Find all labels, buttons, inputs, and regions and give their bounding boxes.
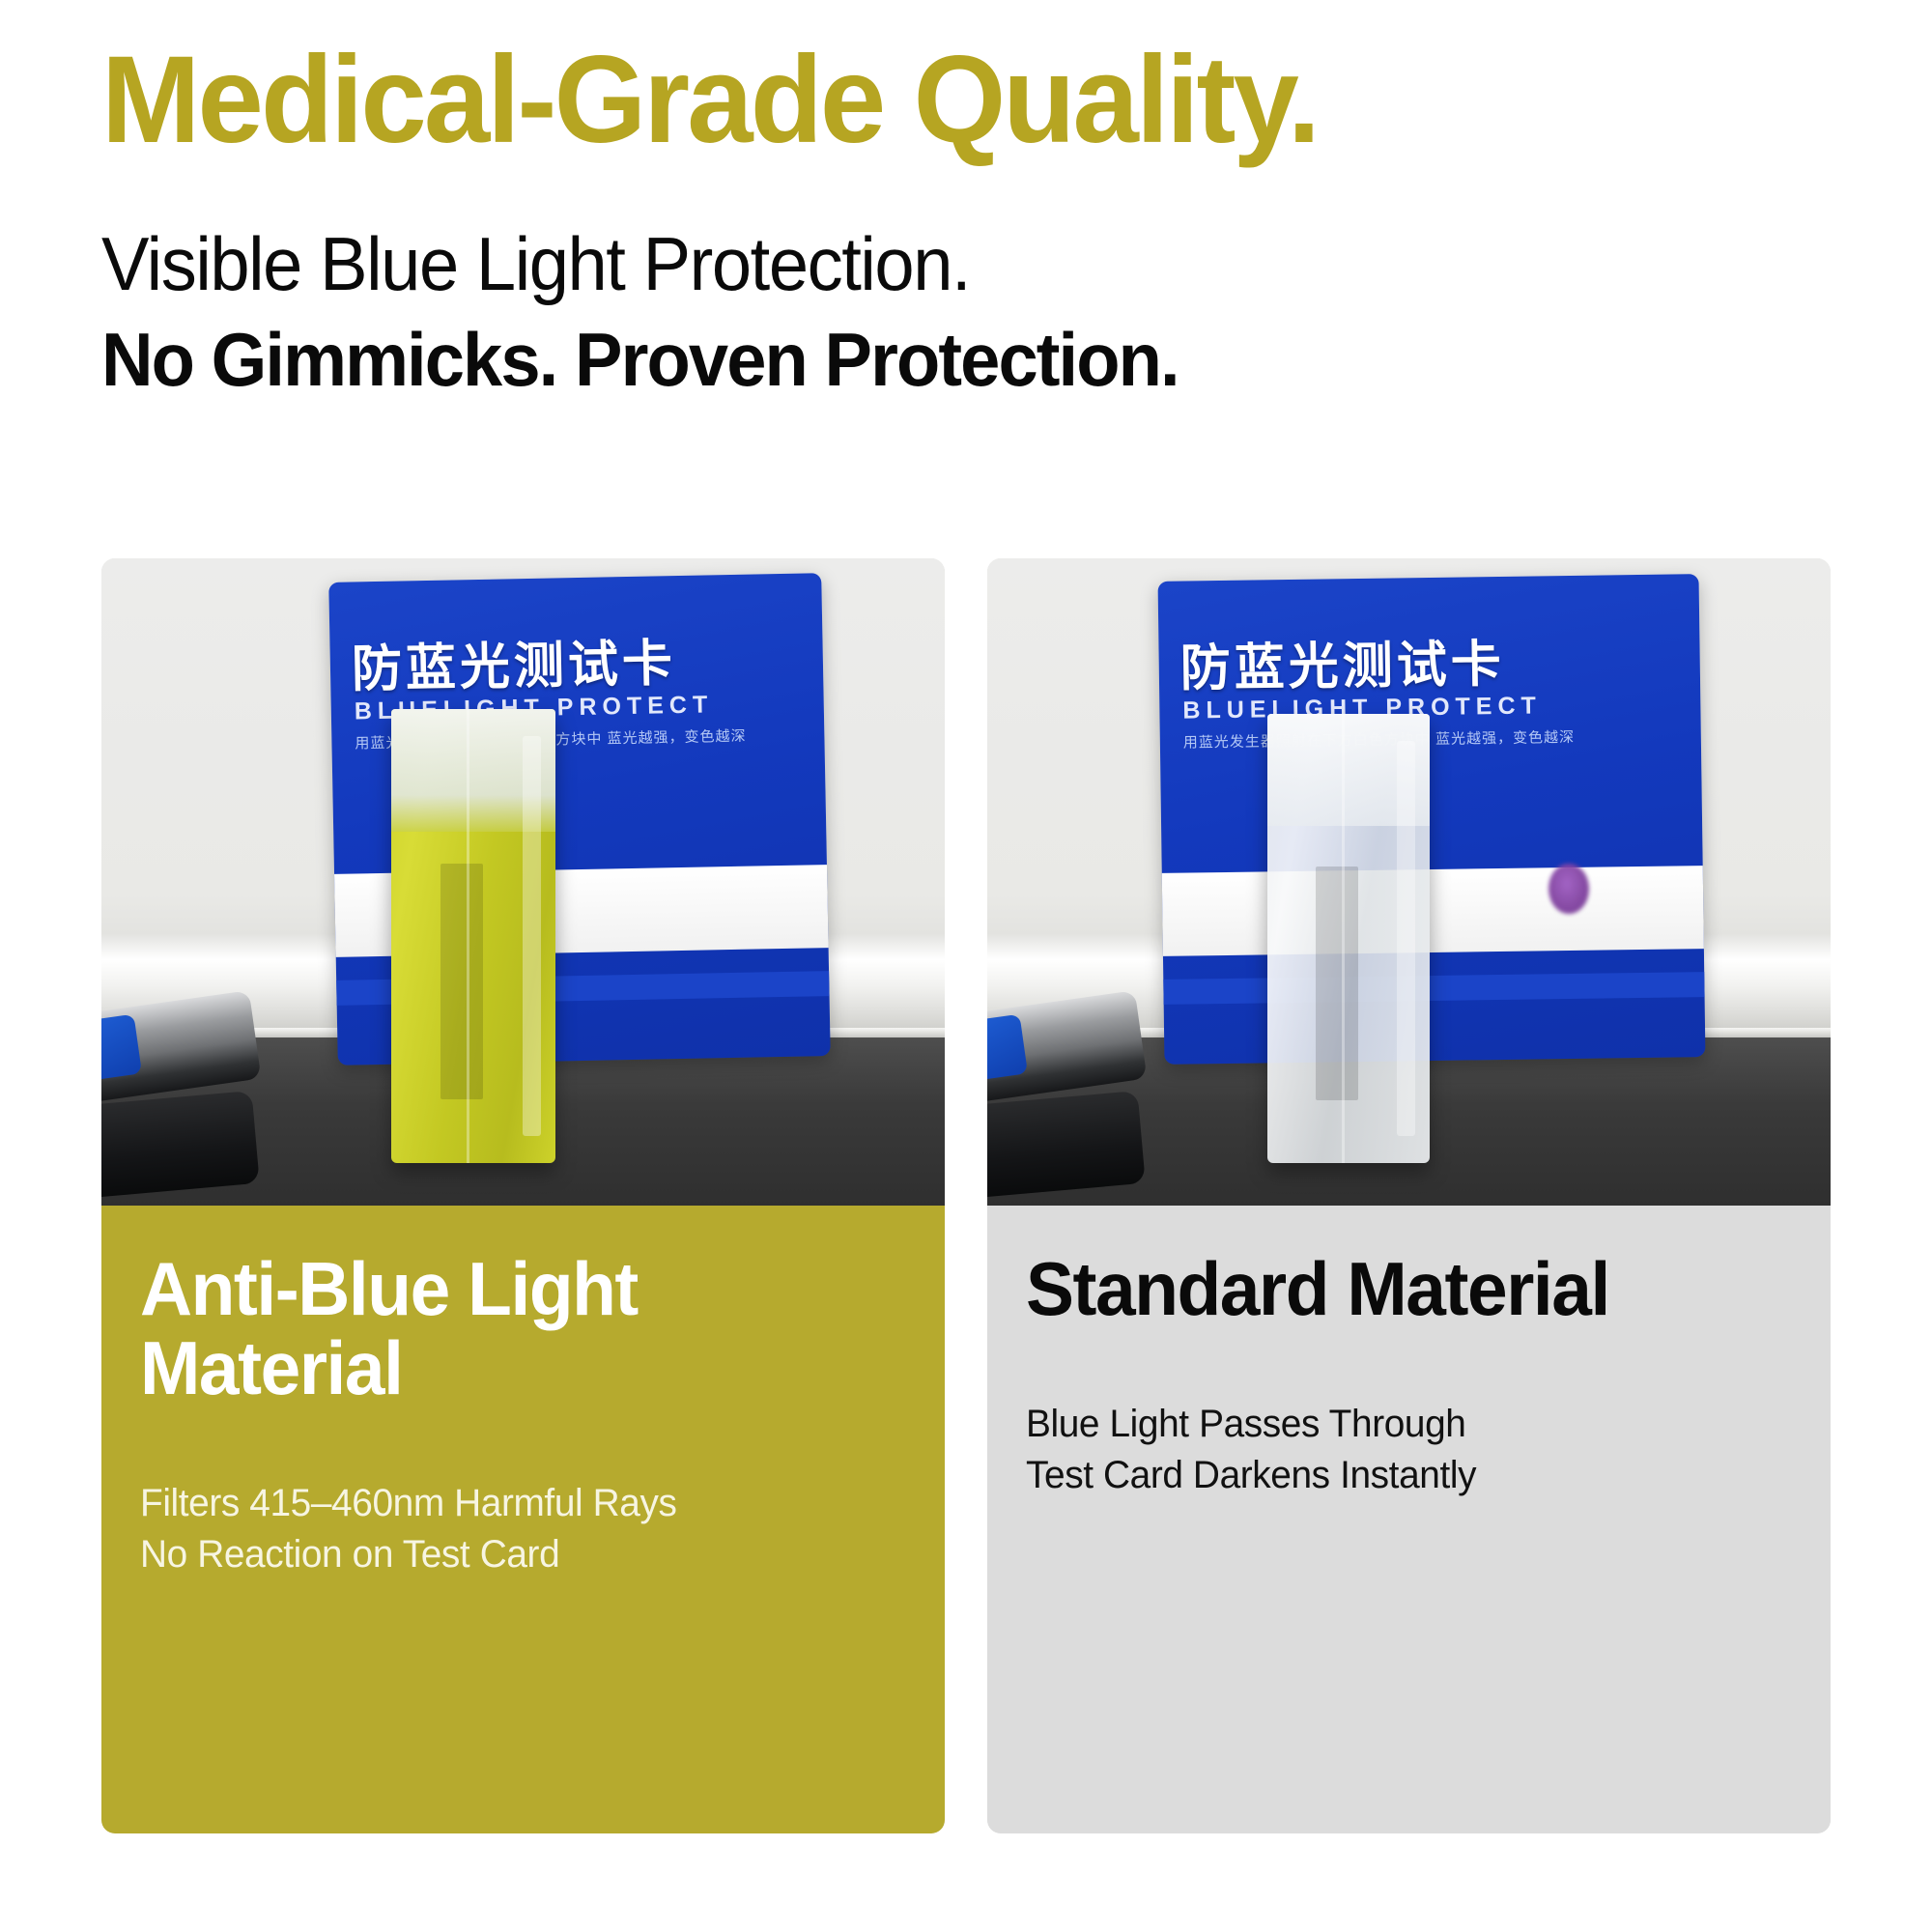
comparison-card-group: 防蓝光测试卡 BLUELIGHT PROTECT 用蓝光发生器照射在下方白色方块… xyxy=(101,558,1831,1833)
cuvette-reflection xyxy=(523,736,541,1136)
card-title-anti-blue-light: Anti-Blue Light Material xyxy=(140,1250,875,1408)
blue-test-card: 防蓝光测试卡 BLUELIGHT PROTECT 用蓝光发生器照射在下方白色方块… xyxy=(1158,574,1706,1065)
caption-standard-material: Standard Material Blue Light Passes Thro… xyxy=(987,1206,1831,1833)
test-card-chinese-title: 防蓝光测试卡 xyxy=(351,619,813,700)
blue-light-flashlight xyxy=(101,993,285,1186)
purple-reaction-spot xyxy=(1548,864,1590,915)
test-card-white-panel xyxy=(1162,866,1704,956)
cuvette-window xyxy=(440,864,483,1099)
photo-standard-material: 防蓝光测试卡 BLUELIGHT PROTECT 用蓝光发生器照射在下方白色方块… xyxy=(987,558,1831,1206)
card-body-anti-blue-light: Filters 415–460nm Harmful Rays No Reacti… xyxy=(140,1478,883,1581)
card-body-standard-material: Blue Light Passes Through Test Card Dark… xyxy=(1026,1399,1769,1502)
caption-anti-blue-light: Anti-Blue Light Material Filters 415–460… xyxy=(101,1206,945,1833)
test-card-chinese-title: 防蓝光测试卡 xyxy=(1179,620,1690,699)
cuvette-window xyxy=(1316,867,1358,1100)
page-title: Medical-Grade Quality. xyxy=(101,39,1771,162)
header: Medical-Grade Quality. Visible Blue Ligh… xyxy=(101,39,1840,403)
cuvette-seam xyxy=(1342,714,1345,1163)
cuvette-yellow-filled xyxy=(391,709,555,1163)
blue-light-flashlight xyxy=(987,993,1171,1186)
card-title-standard-material: Standard Material xyxy=(1026,1250,1761,1329)
cuvette-reflection xyxy=(1397,741,1414,1136)
cuvette-seam xyxy=(467,709,469,1163)
comparison-card-anti-blue-light[interactable]: 防蓝光测试卡 BLUELIGHT PROTECT 用蓝光发生器照射在下方白色方块… xyxy=(101,558,945,1833)
subheading-group: Visible Blue Light Protection. No Gimmic… xyxy=(101,222,1840,403)
test-card-blue-stripe xyxy=(1163,972,1704,1005)
cuvette-clear-empty xyxy=(1267,714,1430,1163)
comparison-card-standard-material[interactable]: 防蓝光测试卡 BLUELIGHT PROTECT 用蓝光发生器照射在下方白色方块… xyxy=(987,558,1831,1833)
subheading-line-2: No Gimmicks. Proven Protection. xyxy=(101,318,1753,402)
subheading-line-1: Visible Blue Light Protection. xyxy=(101,222,1753,306)
photo-anti-blue-light: 防蓝光测试卡 BLUELIGHT PROTECT 用蓝光发生器照射在下方白色方块… xyxy=(101,558,945,1206)
